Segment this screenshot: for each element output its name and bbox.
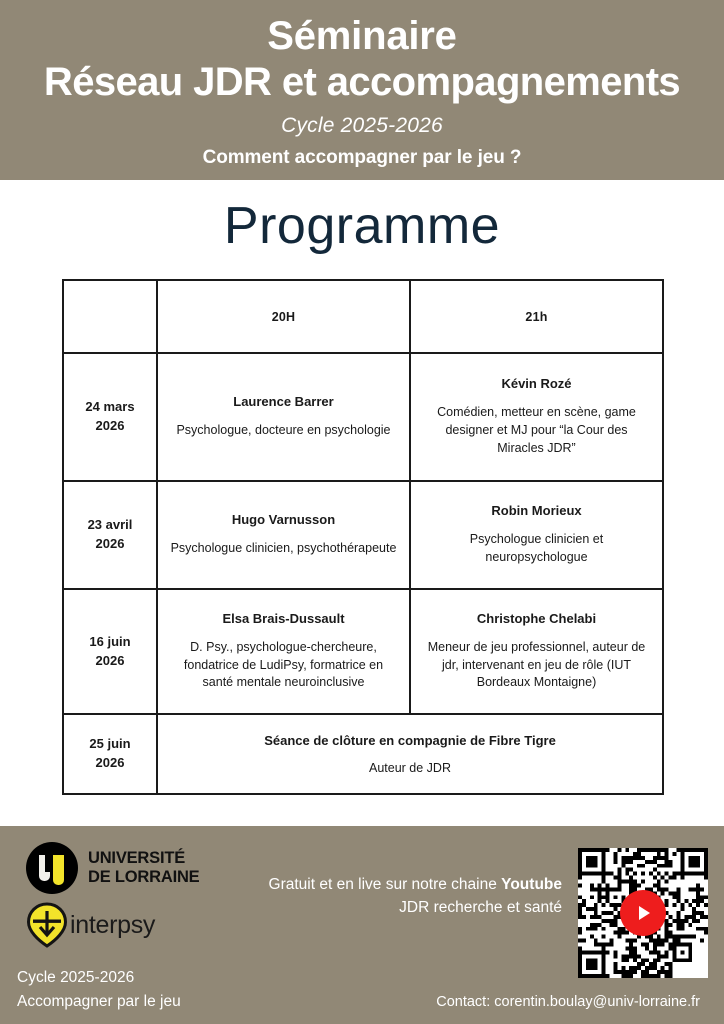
speaker-description: Psychologue clinicien et neuropsychologu… (421, 531, 652, 567)
speaker-description: Meneur de jeu professionnel, auteur de j… (421, 639, 652, 692)
ul-monogram-divider (45, 855, 50, 872)
closing-session-description: Auteur de JDR (168, 761, 652, 775)
session-date: 23 avril2026 (63, 481, 157, 589)
youtube-info: Gratuit et en live sur notre chaine Yout… (268, 873, 562, 920)
footer-cycle-text: Cycle 2025-2026 Accompagner par le jeu (17, 966, 181, 1014)
speaker-name: Robin Morieux (421, 503, 652, 520)
speaker-description: Comédien, metteur en scène, game designe… (421, 404, 652, 457)
closing-session-cell: Séance de clôture en compagnie de Fibre … (157, 714, 663, 794)
table-row: 24 mars2026 Laurence Barrer Psychologue,… (63, 353, 663, 481)
speaker-name: Hugo Varnusson (168, 512, 399, 529)
cycle-subtitle: Cycle 2025-2026 (0, 114, 724, 138)
session-date-text: 24 mars2026 (74, 398, 146, 436)
table-header-20h: 20H (157, 280, 410, 353)
table-header-row: 20H 21h (63, 280, 663, 353)
ul-letter-l-yellow (53, 855, 64, 885)
session-slot-20h: Elsa Brais-Dussault D. Psy., psychologue… (157, 589, 410, 714)
session-date-text: 16 juin2026 (74, 633, 146, 671)
speaker-name: Laurence Barrer (168, 394, 399, 411)
table-row-closing: 25 juin 2026 Séance de clôture en compag… (63, 714, 663, 794)
session-slot-21h: Christophe Chelabi Meneur de jeu profess… (410, 589, 663, 714)
session-date: 24 mars2026 (63, 353, 157, 481)
speaker-name: Christophe Chelabi (421, 611, 652, 628)
universite-de-lorraine-wordmark: UNIVERSITÉ DE LORRAINE (88, 849, 199, 886)
youtube-intro-text: Gratuit et en live sur notre chaine (269, 876, 502, 893)
footer-banner: UNIVERSITÉ DE LORRAINE interpsy Cycle 20… (0, 826, 724, 1024)
closing-session-title: Séance de clôture en compagnie de Fibre … (168, 733, 652, 748)
footer-cycle-line1: Cycle 2025-2026 (17, 966, 181, 990)
seminar-title-line2: Réseau JDR et accompagnements (0, 60, 724, 106)
speaker-name: Elsa Brais-Dussault (168, 611, 399, 628)
speaker-description: Psychologue clinicien, psychothérapeute (168, 540, 399, 558)
session-slot-20h: Hugo Varnusson Psychologue clinicien, ps… (157, 481, 410, 589)
page-title: Programme (0, 196, 724, 256)
universite-de-lorraine-logo: UNIVERSITÉ DE LORRAINE (26, 842, 199, 894)
university-name-line1: UNIVERSITÉ (88, 849, 199, 868)
table-header-21h: 21h (410, 280, 663, 353)
closing-date-text: 25 juin 2026 (74, 735, 146, 773)
interpsy-drop-icon (26, 902, 68, 948)
youtube-channel-name: JDR recherche et santé (268, 896, 562, 919)
closing-session-date: 25 juin 2026 (63, 714, 157, 794)
qr-code[interactable] (578, 848, 708, 978)
interpsy-wordmark: interpsy (70, 911, 155, 940)
session-date-text: 23 avril2026 (74, 516, 146, 554)
header-banner: Séminaire Réseau JDR et accompagnements … (0, 0, 724, 180)
theme-question: Comment accompagner par le jeu ? (0, 147, 724, 169)
table-row: 23 avril2026 Hugo Varnusson Psychologue … (63, 481, 663, 589)
seminar-title-line1: Séminaire (0, 14, 724, 60)
table-row: 16 juin2026 Elsa Brais-Dussault D. Psy.,… (63, 589, 663, 714)
youtube-label: Youtube (501, 876, 562, 893)
programme-table: 20H 21h 24 mars2026 Laurence Barrer Psyc… (62, 279, 664, 795)
session-slot-20h: Laurence Barrer Psychologue, docteure en… (157, 353, 410, 481)
speaker-description: Psychologue, docteure en psychologie (168, 422, 399, 440)
ul-monogram-icon (26, 842, 78, 894)
contact-email[interactable]: Contact: corentin.boulay@univ-lorraine.f… (300, 994, 700, 1010)
youtube-play-icon (620, 890, 666, 936)
session-slot-21h: Robin Morieux Psychologue clinicien et n… (410, 481, 663, 589)
speaker-description: D. Psy., psychologue-chercheure, fondatr… (168, 639, 399, 692)
column-label-20h: 20H (168, 310, 399, 324)
column-label-21h: 21h (421, 310, 652, 324)
session-date: 16 juin2026 (63, 589, 157, 714)
table-header-empty (63, 280, 157, 353)
footer-cycle-line2: Accompagner par le jeu (17, 990, 181, 1014)
speaker-name: Kévin Rozé (421, 376, 652, 393)
session-slot-21h: Kévin Rozé Comédien, metteur en scène, g… (410, 353, 663, 481)
play-triangle-icon (639, 906, 650, 920)
university-name-line2: DE LORRAINE (88, 868, 199, 887)
youtube-intro-line: Gratuit et en live sur notre chaine Yout… (268, 873, 562, 896)
interpsy-logo: interpsy (26, 902, 155, 948)
